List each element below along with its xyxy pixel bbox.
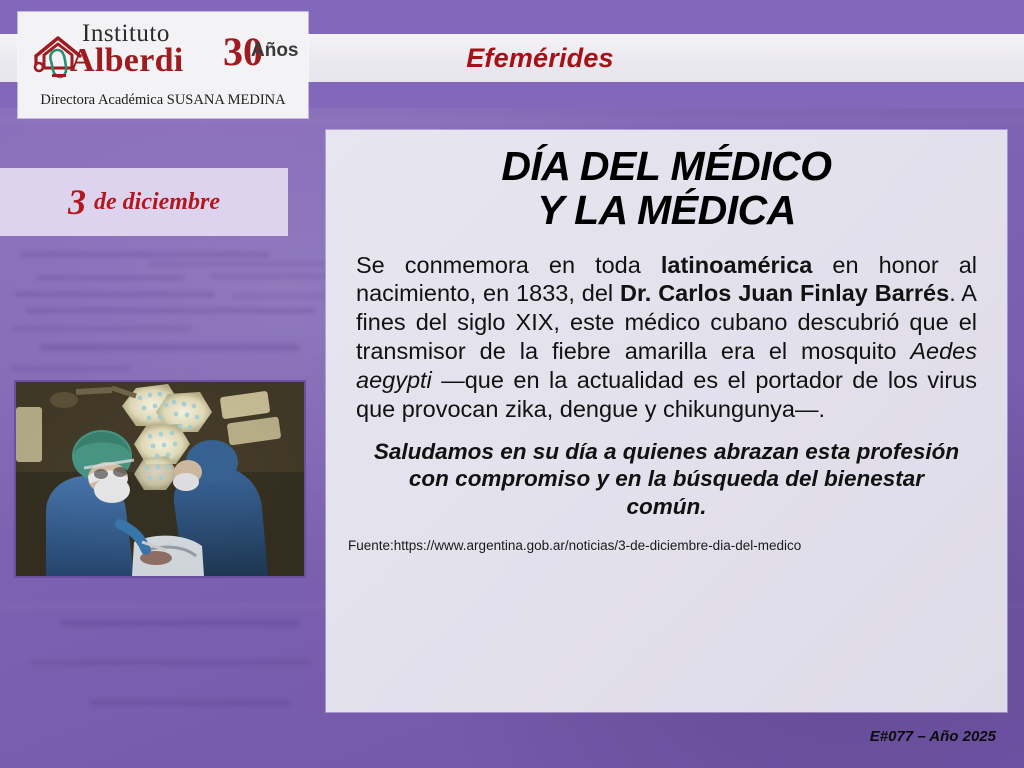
date-month: de diciembre <box>94 189 220 216</box>
surgery-photo <box>14 380 306 578</box>
bg-band <box>0 120 1024 122</box>
bg-scribble <box>35 276 185 280</box>
content-title-line2: Y LA MÉDICA <box>326 188 1007 232</box>
content-paragraph: Se conmemora en toda latinoamérica en ho… <box>356 251 977 424</box>
content-closing-message: Saludamos en su día a quienes abrazan es… <box>370 438 963 520</box>
bg-scribble <box>210 274 330 279</box>
bg-scribble <box>90 700 290 705</box>
bg-scribble <box>15 292 215 297</box>
director-line: Directora Académica SUSANA MEDINA <box>18 92 308 109</box>
anniversary-label: Años <box>251 40 299 62</box>
source-link[interactable]: Fuente:https://www.argentina.gob.ar/noti… <box>348 538 1007 553</box>
paragraph-bold-finlay: Dr. Carlos Juan Finlay Barrés <box>620 280 949 306</box>
logo-panel: Instituto Alberdi 30 Años Directora Acad… <box>18 12 308 118</box>
paragraph-part-1: Se conmemora en toda <box>356 252 661 278</box>
bg-scribble <box>10 366 130 371</box>
bg-scribble <box>60 620 300 626</box>
paragraph-bold-latinoamerica: latinoamérica <box>661 252 813 278</box>
bg-scribble <box>40 344 300 351</box>
page-title: Efemérides <box>330 34 750 82</box>
content-title: DÍA DEL MÉDICO Y LA MÉDICA <box>326 144 1007 233</box>
bg-scribble <box>232 294 327 298</box>
surgery-photo-image <box>16 382 304 576</box>
logo-alberdi-text: Alberdi <box>70 42 184 80</box>
bg-scribble <box>150 262 330 266</box>
logo-wordmark: Instituto Alberdi <box>70 20 230 88</box>
bg-scribble <box>25 308 315 313</box>
anniversary-badge: 30 Años <box>223 30 305 76</box>
footer-edition: E#077 – Año 2025 <box>870 728 996 745</box>
paragraph-part-4: —que en la actualidad es el portador de … <box>356 367 977 422</box>
bg-scribble <box>20 252 270 257</box>
content-title-line1: DÍA DEL MÉDICO <box>326 144 1007 188</box>
date-badge: 3 de diciembre <box>0 168 288 236</box>
bg-scribble <box>30 660 310 665</box>
logo-row: Instituto Alberdi 30 Años <box>18 16 308 88</box>
bg-scribble <box>12 326 192 331</box>
content-panel: DÍA DEL MÉDICO Y LA MÉDICA Se conmemora … <box>326 130 1007 712</box>
date-day: 3 <box>68 184 86 220</box>
